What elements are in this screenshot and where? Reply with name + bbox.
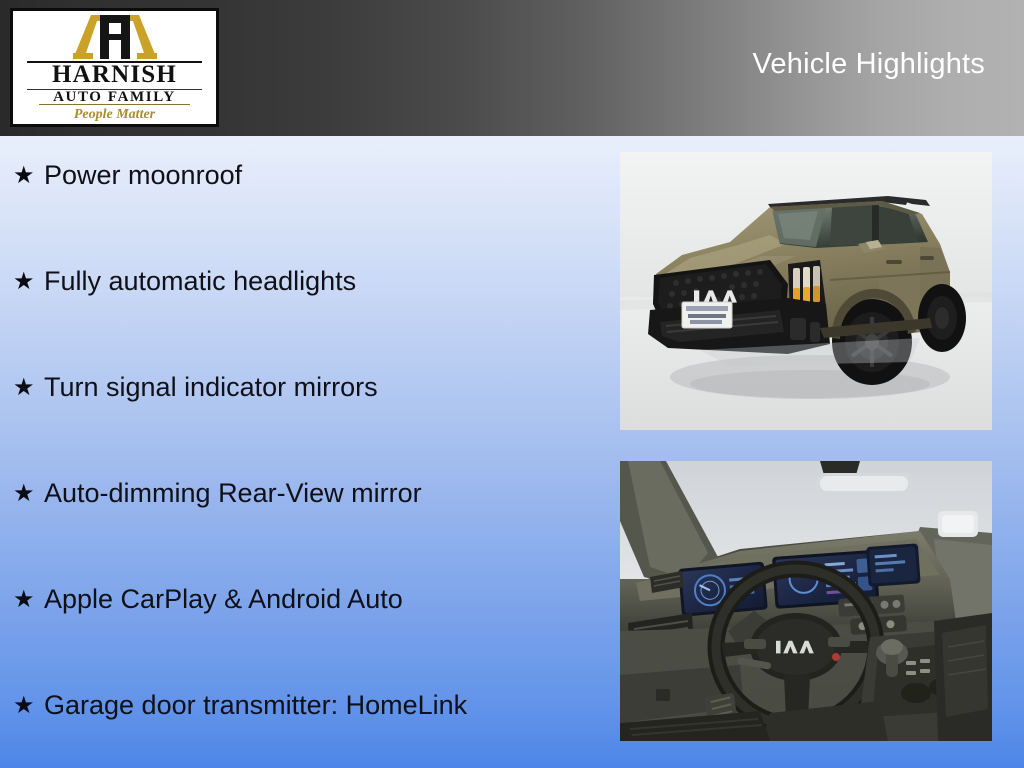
logo-name-line2: AUTO FAMILY <box>13 90 216 105</box>
list-item: ★ Auto-dimming Rear-View mirror <box>0 468 600 574</box>
list-item-label: Apple CarPlay & Android Auto <box>44 582 403 616</box>
list-item: ★ Power moonroof <box>0 150 600 256</box>
vehicle-exterior-photo <box>620 152 992 430</box>
logo-name-line1: HARNISH <box>13 62 216 88</box>
star-bullet-icon: ★ <box>13 270 35 294</box>
star-bullet-icon: ★ <box>13 588 35 612</box>
list-item: ★ Turn signal indicator mirrors <box>0 362 600 468</box>
list-item-label: Garage door transmitter: HomeLink <box>44 688 467 722</box>
vehicle-interior-photo <box>620 461 992 741</box>
page-title: Vehicle Highlights <box>752 50 985 79</box>
list-item-label: Turn signal indicator mirrors <box>44 370 378 404</box>
highlights-list: ★ Power moonroof ★ Fully automatic headl… <box>0 150 600 768</box>
list-item: ★ Garage door transmitter: HomeLink <box>0 680 600 768</box>
list-item-label: Auto-dimming Rear-View mirror <box>44 476 422 510</box>
list-item-label: Power moonroof <box>44 158 242 192</box>
star-bullet-icon: ★ <box>13 164 35 188</box>
star-bullet-icon: ★ <box>13 694 35 718</box>
star-bullet-icon: ★ <box>13 482 35 506</box>
logo-divider-bottom <box>39 104 190 105</box>
slide-root: Vehicle Highlights HARNISH AU <box>0 0 1024 768</box>
harnish-monogram-icon <box>67 15 163 59</box>
star-bullet-icon: ★ <box>13 376 35 400</box>
list-item: ★ Apple CarPlay & Android Auto <box>0 574 600 680</box>
list-item: ★ Fully automatic headlights <box>0 256 600 362</box>
vehicle-interior-illustration <box>620 461 992 741</box>
list-item-label: Fully automatic headlights <box>44 264 356 298</box>
vehicle-exterior-illustration <box>620 152 992 430</box>
logo-tagline: People Matter <box>13 107 216 122</box>
dealer-logo: HARNISH AUTO FAMILY People Matter <box>10 8 219 127</box>
